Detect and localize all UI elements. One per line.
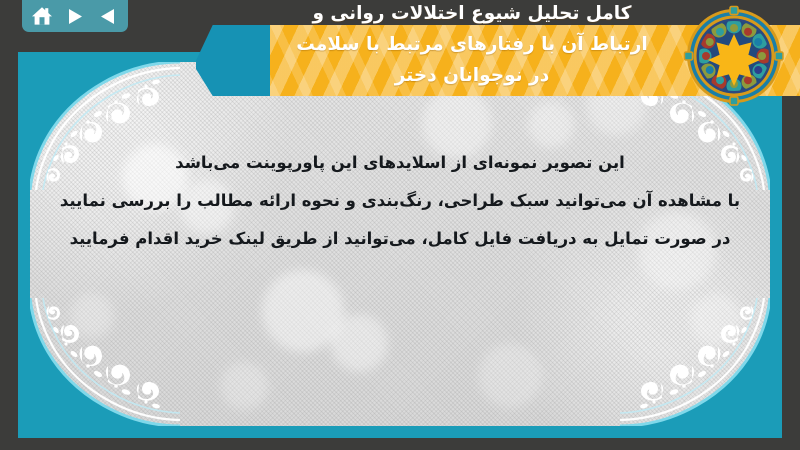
corner-ornament-bottom-right bbox=[620, 298, 770, 426]
body-line-3: در صورت تمایل به دریافت فایل کامل، می‌تو… bbox=[54, 220, 746, 258]
bokeh-circle bbox=[330, 314, 388, 372]
bokeh-circle bbox=[478, 344, 542, 408]
filigree-icon bbox=[620, 298, 770, 426]
bokeh-circle bbox=[586, 76, 646, 136]
navigation-bar bbox=[22, 0, 128, 32]
slide-body-text: این تصویر نمونه‌ای از اسلایدهای این پاور… bbox=[54, 144, 746, 258]
corner-ornament-bottom-left bbox=[30, 298, 180, 426]
home-button[interactable] bbox=[28, 3, 56, 29]
mandala-icon bbox=[682, 4, 786, 108]
body-line-1: این تصویر نمونه‌ای از اسلایدهای این پاور… bbox=[54, 144, 746, 182]
persian-mandala-ornament bbox=[682, 4, 786, 108]
forward-button[interactable] bbox=[61, 3, 89, 29]
bokeh-circle bbox=[262, 270, 344, 352]
slide-content-area: این تصویر نمونه‌ای از اسلایدهای این پاور… bbox=[30, 62, 770, 426]
filigree-icon bbox=[30, 298, 180, 426]
bokeh-circle bbox=[690, 294, 742, 346]
body-line-2: با مشاهده آن می‌توانید سبک طراحی، رنگ‌بن… bbox=[54, 182, 746, 220]
triangle-left-icon bbox=[100, 8, 116, 25]
bokeh-circle bbox=[220, 362, 268, 410]
home-icon bbox=[31, 6, 53, 26]
bokeh-circle bbox=[70, 294, 114, 338]
slide-viewer: کامل تحلیل شیوع اختلالات روانی و ارتباط … bbox=[0, 0, 800, 450]
bokeh-circle bbox=[528, 102, 574, 148]
triangle-right-icon bbox=[67, 8, 83, 25]
back-button[interactable] bbox=[94, 3, 122, 29]
slide-frame: این تصویر نمونه‌ای از اسلایدهای این پاور… bbox=[18, 52, 782, 438]
